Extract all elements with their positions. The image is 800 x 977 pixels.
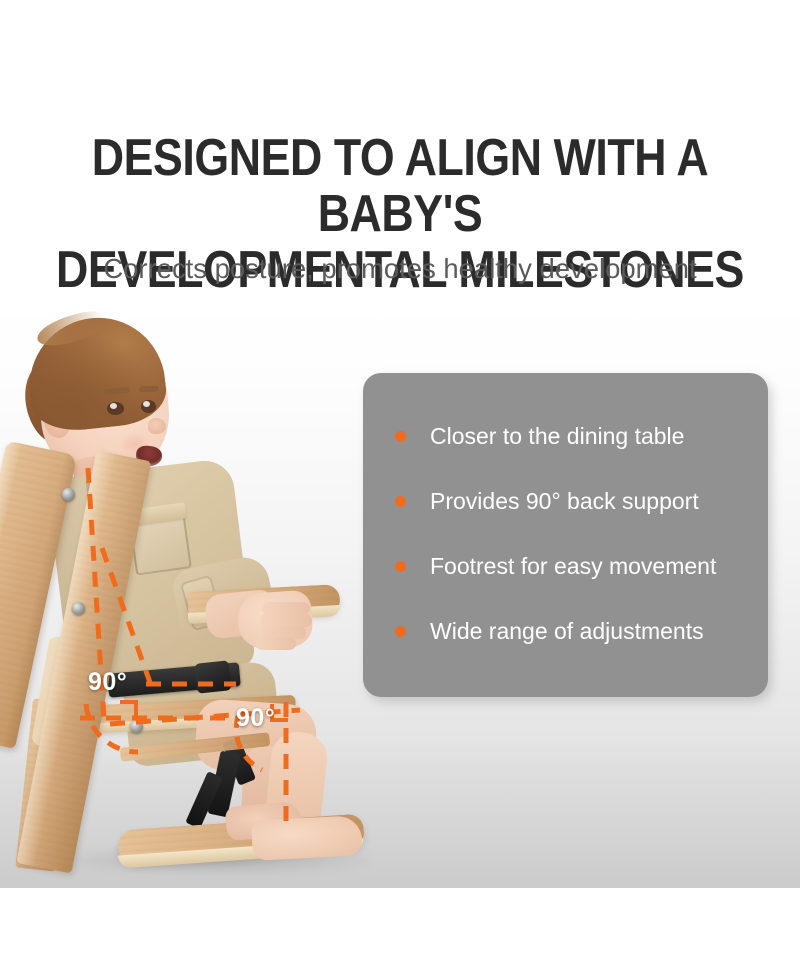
child-finger (256, 637, 296, 650)
safety-harness-buckle (195, 660, 232, 693)
bullet-dot-icon (395, 496, 406, 507)
child-nose (148, 418, 166, 434)
child-eyebrow-right (139, 386, 159, 393)
chair-screw (130, 720, 143, 733)
feature-list-panel: Closer to the dining table Provides 90° … (363, 373, 768, 697)
header-block: DESIGNED TO ALIGN WITH A BABY'S DEVELOPM… (0, 0, 800, 300)
child-eye-highlight-left (110, 403, 117, 409)
feature-list: Closer to the dining table Provides 90° … (363, 373, 768, 697)
feature-label: Provides 90° back support (430, 486, 699, 516)
child-foot-near (251, 815, 363, 861)
feature-item: Closer to the dining table (395, 421, 755, 451)
feature-item: Provides 90° back support (395, 486, 755, 516)
feature-label: Footrest for easy movement (430, 551, 716, 581)
feature-label: Closer to the dining table (430, 421, 684, 451)
bullet-dot-icon (395, 626, 406, 637)
feature-item: Wide range of adjustments (395, 616, 755, 646)
marketing-page: DESIGNED TO ALIGN WITH A BABY'S DEVELOPM… (0, 0, 800, 977)
chair-screw (62, 488, 75, 501)
page-subtitle: Corrects posture, promotes healthy devel… (8, 252, 792, 286)
child-eye-highlight-right (143, 401, 150, 407)
feature-item: Footrest for easy movement (395, 551, 755, 581)
bottom-white-strip (0, 888, 800, 977)
chair-screw (72, 602, 85, 615)
bullet-dot-icon (395, 561, 406, 572)
bullet-dot-icon (395, 431, 406, 442)
feature-label: Wide range of adjustments (430, 616, 704, 646)
